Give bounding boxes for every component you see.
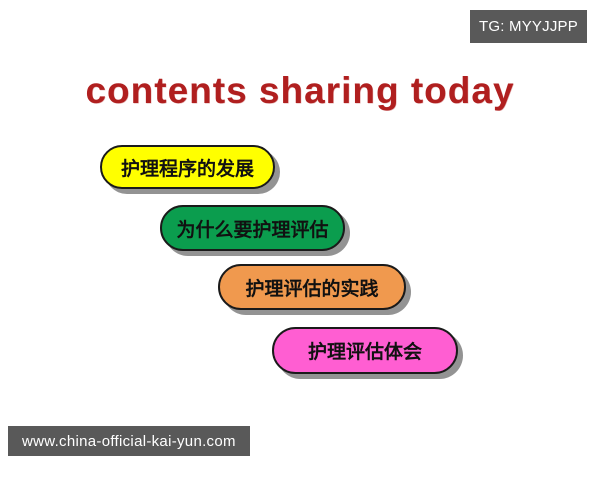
content-item-2-label: 为什么要护理评估 [176,215,328,242]
site-url-watermark: www.china-official-kai-yun.com [8,426,250,456]
page-title: contents sharing today [0,70,600,112]
content-item-2[interactable]: 为什么要护理评估 [160,205,345,251]
content-item-1[interactable]: 护理程序的发展 [100,145,275,189]
content-item-4-label: 护理评估体会 [308,337,422,364]
content-item-4[interactable]: 护理评估体会 [272,327,458,374]
presentation-slide: TG: MYYJJPP contents sharing today 护理程序的… [0,0,600,480]
content-item-3[interactable]: 护理评估的实践 [218,264,406,310]
content-item-3-label: 护理评估的实践 [245,274,378,301]
content-item-1-label: 护理程序的发展 [121,154,254,181]
telegram-watermark-badge: TG: MYYJJPP [470,10,587,43]
